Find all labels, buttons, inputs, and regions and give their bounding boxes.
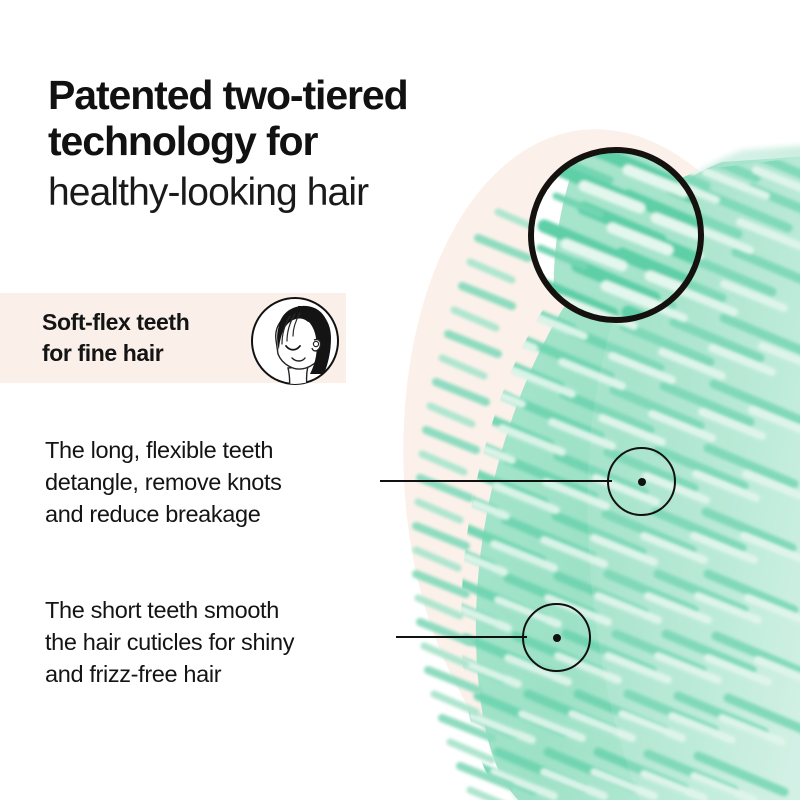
callout-soft-flex-teeth: Soft-flex teeth for fine hair	[42, 307, 189, 369]
leader-line-long-teeth	[380, 480, 612, 482]
magnifier-circle	[528, 147, 704, 323]
headline-line-3: healthy-looking hair	[48, 168, 568, 218]
callout-short-teeth: The short teeth smooth the hair cuticles…	[45, 594, 294, 690]
callout-2-line-3: and reduce breakage	[45, 498, 282, 530]
pointer-dot	[553, 634, 561, 642]
callout-2-line-2: detangle, remove knots	[45, 466, 282, 498]
headline-line-1: Patented two-tiered	[48, 72, 568, 118]
callout-2-line-1: The long, flexible teeth	[45, 434, 282, 466]
headline-line-2: technology for	[48, 118, 568, 164]
leader-line-short-teeth	[396, 636, 527, 638]
callout-1-line-2: for fine hair	[42, 338, 189, 369]
callout-3-line-3: and frizz-free hair	[45, 658, 294, 690]
infographic-canvas: Patented two-tiered technology for healt…	[0, 0, 800, 800]
page-title: Patented two-tiered technology for healt…	[48, 72, 568, 218]
callout-1-line-1: Soft-flex teeth	[42, 307, 189, 338]
woman-face-icon	[246, 296, 344, 386]
pointer-short-teeth	[522, 603, 591, 672]
callout-3-line-1: The short teeth smooth	[45, 594, 294, 626]
pointer-long-teeth	[607, 447, 676, 516]
callout-long-flexible-teeth: The long, flexible teeth detangle, remov…	[45, 434, 282, 530]
callout-3-line-2: the hair cuticles for shiny	[45, 626, 294, 658]
pointer-dot	[638, 478, 646, 486]
